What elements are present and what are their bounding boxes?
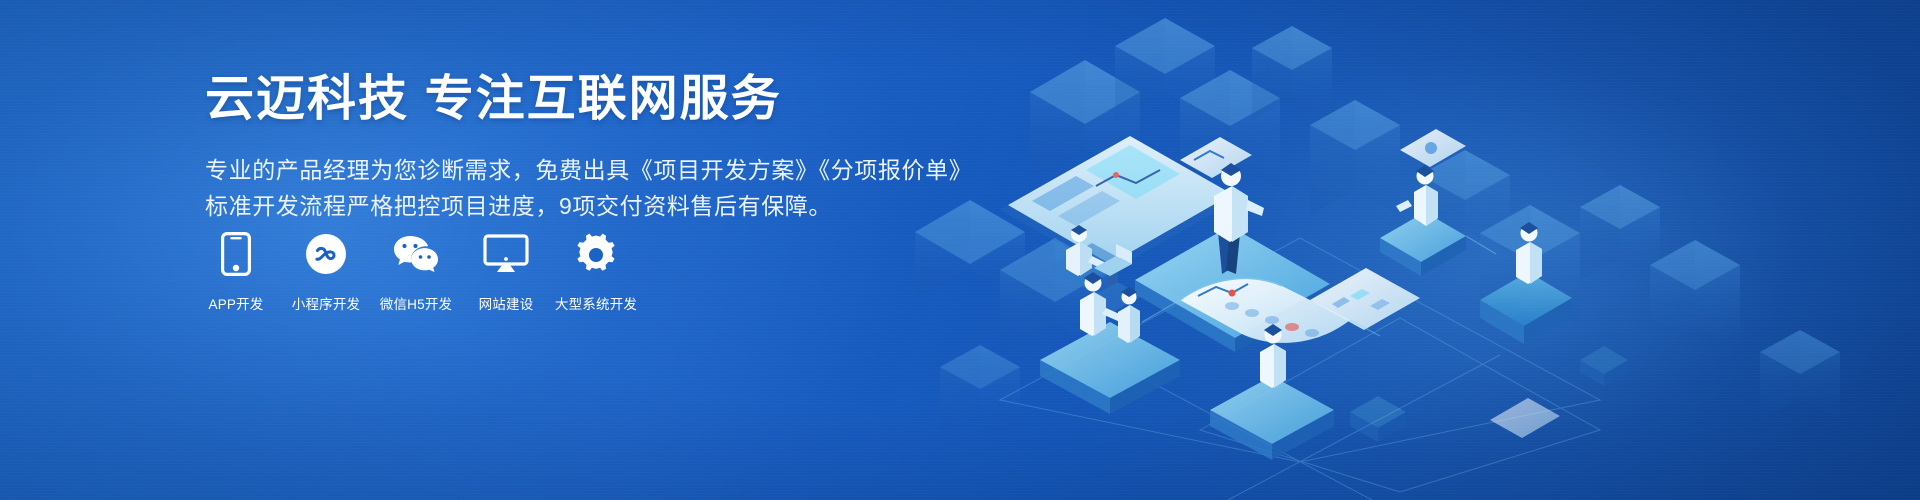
hero-text-block: 云迈科技 专注互联网服务 专业的产品经理为您诊断需求，免费出具《项目开发方案》《…: [205, 72, 925, 224]
mini-program-icon: [305, 232, 347, 276]
service-list: APP开发 小程序开发 微信: [200, 232, 632, 313]
mobile-phone-icon: [221, 232, 251, 276]
service-item-wechat-h5[interactable]: 微信H5开发: [380, 232, 452, 313]
service-label: 大型系统开发: [555, 293, 637, 313]
service-item-miniprogram[interactable]: 小程序开发: [290, 232, 362, 313]
service-label: 网站建设: [479, 293, 534, 313]
service-item-website[interactable]: 网站建设: [470, 232, 542, 313]
service-item-large-system[interactable]: 大型系统开发: [560, 232, 632, 313]
service-label: 微信H5开发: [380, 293, 452, 313]
subtitle-line-2: 标准开发流程严格把控项目进度，9项交付资料售后有保障。: [205, 189, 925, 225]
service-item-app[interactable]: APP开发: [200, 232, 272, 313]
page-title: 云迈科技 专注互联网服务: [205, 72, 925, 127]
service-label: APP开发: [208, 293, 263, 313]
subtitle-line-1: 专业的产品经理为您诊断需求，免费出具《项目开发方案》《分项报价单》: [205, 153, 925, 189]
monitor-icon: [483, 232, 529, 276]
wechat-icon: [393, 232, 439, 276]
hero-subtitle: 专业的产品经理为您诊断需求，免费出具《项目开发方案》《分项报价单》 标准开发流程…: [205, 153, 925, 224]
hero-illustration: [880, 0, 1920, 500]
hero-banner: 云迈科技 专注互联网服务 专业的产品经理为您诊断需求，免费出具《项目开发方案》《…: [0, 0, 1920, 500]
gear-icon: [574, 232, 618, 276]
service-label: 小程序开发: [292, 293, 361, 313]
